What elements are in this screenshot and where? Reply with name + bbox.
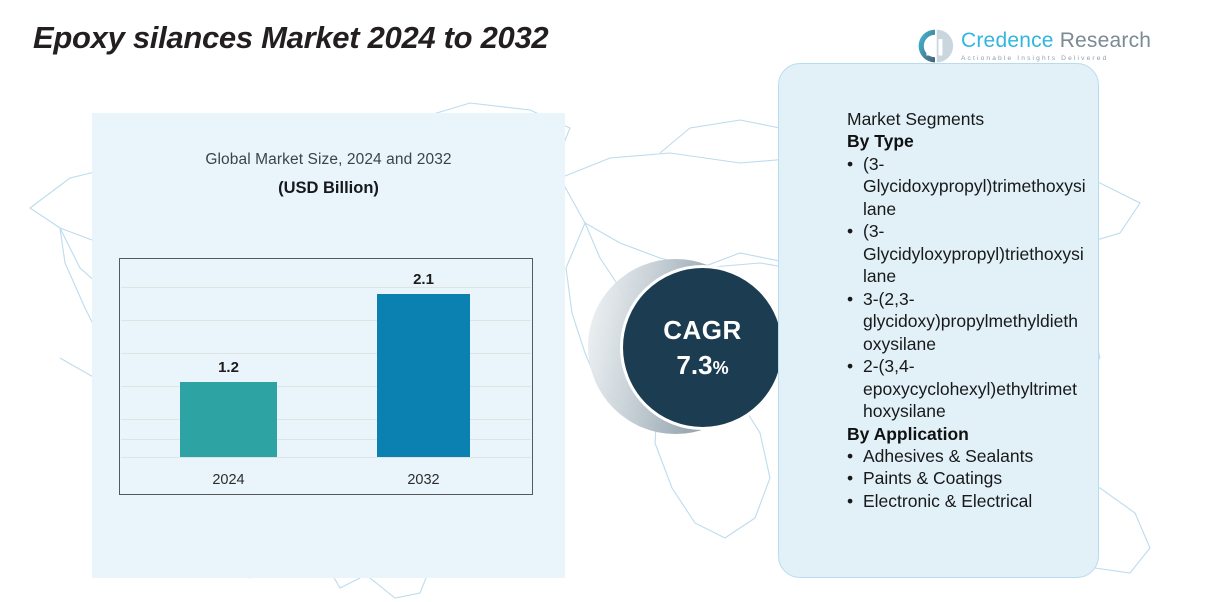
logo-name-second: Research xyxy=(1054,29,1152,52)
list-item: Paints & Coatings xyxy=(847,467,1086,489)
chart-subheading: (USD Billion) xyxy=(92,179,565,198)
cagr-circle: CAGR 7.3% xyxy=(620,265,785,430)
cagr-value: 7.3% xyxy=(676,352,728,378)
cagr-percent-sign: % xyxy=(713,358,729,378)
bar-2032 xyxy=(377,294,470,457)
cagr-number: 7.3 xyxy=(676,350,712,380)
market-size-chart-panel: Global Market Size, 2024 and 2032 (USD B… xyxy=(92,113,565,578)
list-item: 2-(3,4-epoxycyclohexyl)ethyltrimethoxysi… xyxy=(847,355,1086,422)
chart-heading: Global Market Size, 2024 and 2032 xyxy=(92,151,565,169)
list-item: (3-Glycidoxypropyl)trimethoxysilane xyxy=(847,153,1086,220)
bar-category-2032: 2032 xyxy=(377,472,470,488)
bar-chart-plot-area: 1.2 2024 2.1 2032 xyxy=(119,258,533,495)
logo-tagline: Actionable Insights Delivered xyxy=(961,55,1151,62)
bar-value-2032: 2.1 xyxy=(377,271,470,288)
list-item: Adhesives & Sealants xyxy=(847,445,1086,467)
market-segments-panel: Market Segments By Type (3-Glycidoxyprop… xyxy=(778,63,1099,578)
logo-text: Credence Research Actionable Insights De… xyxy=(961,30,1151,61)
list-item: 3-(2,3-glycidoxy)propylmethyldiethoxysil… xyxy=(847,288,1086,355)
logo-company-name: Credence Research xyxy=(961,30,1151,52)
bar-group-2024: 1.2 2024 xyxy=(180,382,277,457)
cagr-label: CAGR xyxy=(663,317,742,343)
segments-list-by-type: (3-Glycidoxypropyl)trimethoxysilane (3-G… xyxy=(847,153,1086,423)
segments-title: Market Segments xyxy=(847,108,1086,130)
list-item: (3-Glycidyloxypropyl)triethoxysilane xyxy=(847,220,1086,287)
logo-name-first: Credence xyxy=(961,29,1054,52)
segments-list-by-application: Adhesives & Sealants Paints & Coatings E… xyxy=(847,445,1086,512)
brand-logo: Credence Research Actionable Insights De… xyxy=(916,27,1151,65)
segments-group-heading-by-type: By Type xyxy=(847,130,1086,152)
cagr-badge: CAGR 7.3% xyxy=(610,265,785,440)
plot-inner: 1.2 2024 2.1 2032 xyxy=(120,259,532,494)
credence-logo-icon xyxy=(916,27,954,65)
bar-category-2024: 2024 xyxy=(180,472,277,488)
list-item: Electronic & Electrical xyxy=(847,490,1086,512)
gridline xyxy=(121,457,531,458)
bar-value-2024: 1.2 xyxy=(180,359,277,376)
bar-group-2032: 2.1 2032 xyxy=(377,294,470,457)
bar-2024 xyxy=(180,382,277,457)
segments-group-heading-by-application: By Application xyxy=(847,423,1086,445)
page-title: Epoxy silances Market 2024 to 2032 xyxy=(33,20,548,56)
